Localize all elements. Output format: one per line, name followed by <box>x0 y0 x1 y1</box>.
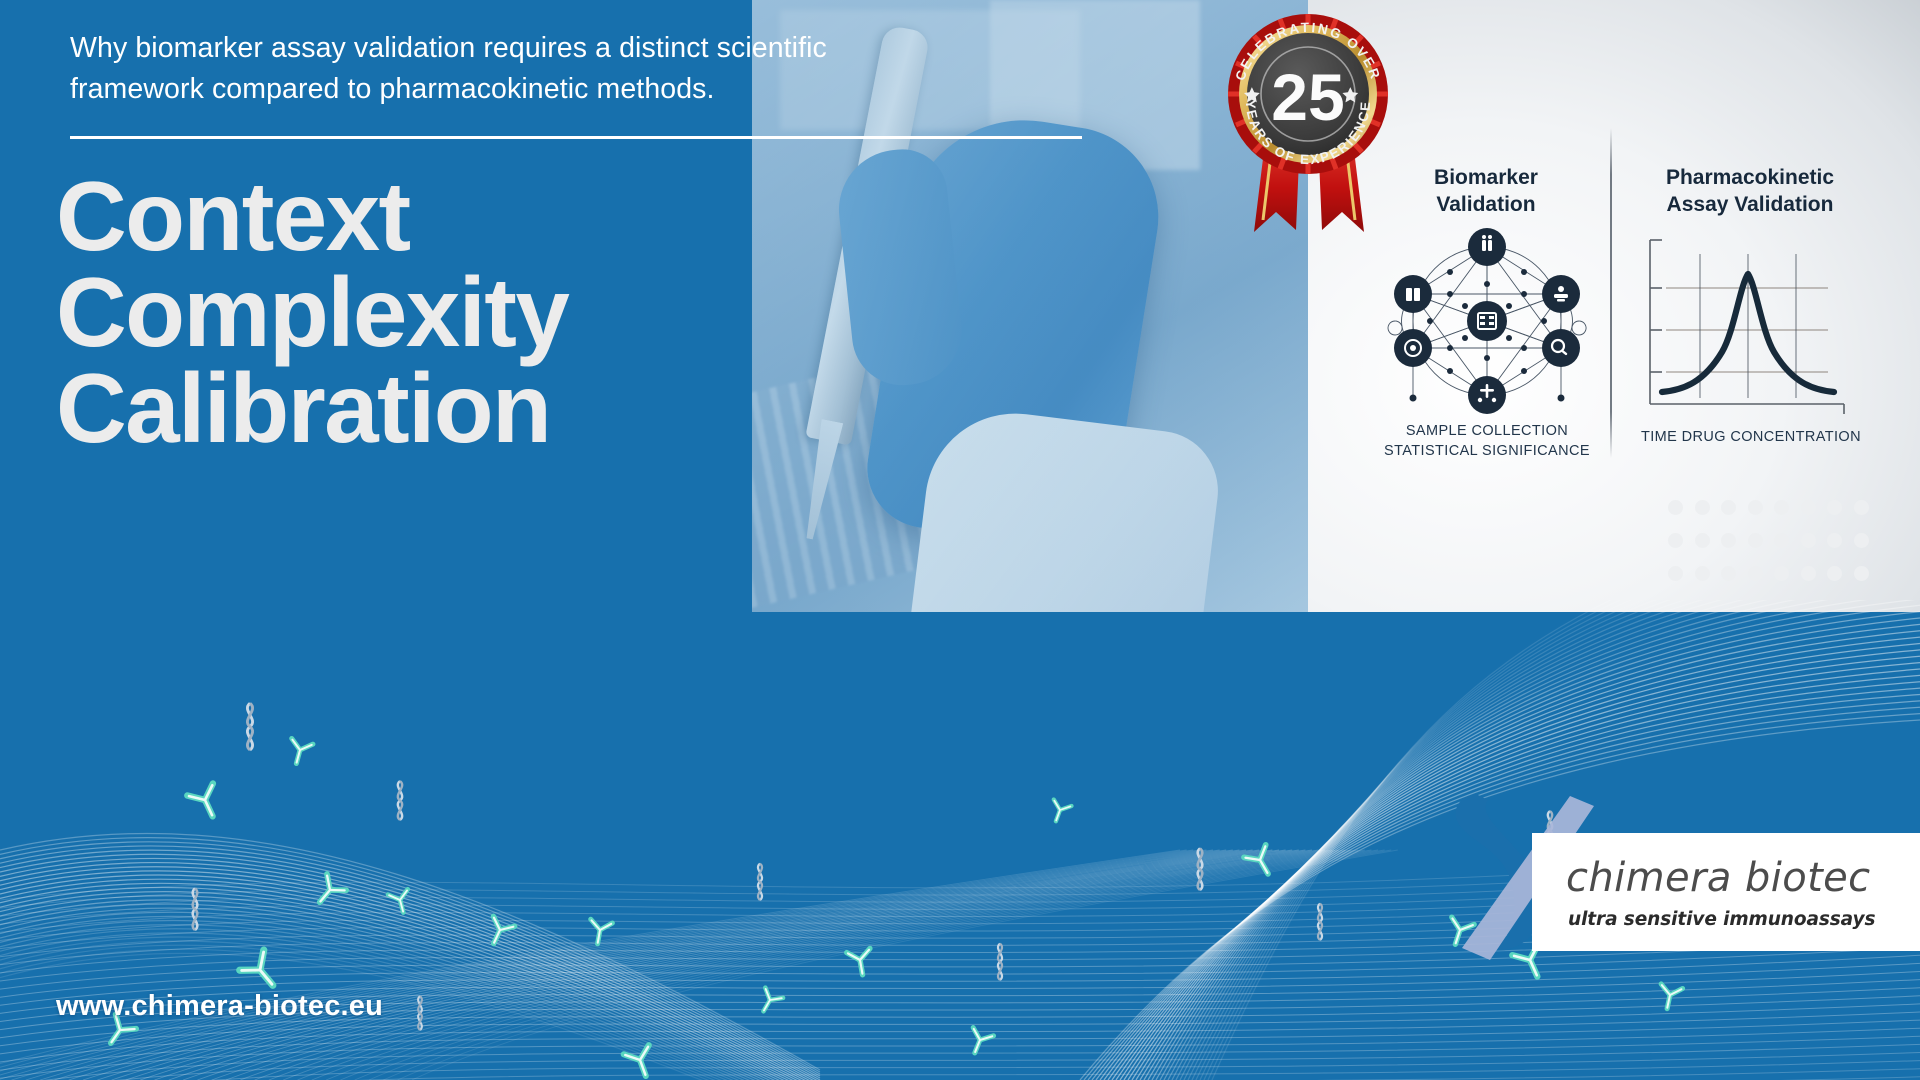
dna-strand-icon <box>1318 904 1322 940</box>
antibody-icon <box>310 874 346 910</box>
marketing-banner: Why biomarker assay validation requires … <box>0 0 1920 1080</box>
grid-dot <box>1695 566 1710 581</box>
grid-dot <box>1774 566 1789 581</box>
biomarker-panel-title: Biomarker Validation <box>1366 164 1606 219</box>
biomarker-panel-caption: SAMPLE COLLECTION STATISTICAL SIGNIFICAN… <box>1356 422 1618 461</box>
antibody-icon <box>1244 845 1279 880</box>
grid-dot <box>1801 500 1816 515</box>
grid-dot <box>1695 533 1710 548</box>
dna-strand-icon <box>1198 848 1203 890</box>
antibody-icon <box>240 950 285 995</box>
biomarker-title-line-1: Biomarker <box>1366 164 1606 191</box>
grid-dot <box>1801 566 1816 581</box>
antibody-icon <box>187 784 225 823</box>
grid-dot <box>1668 500 1683 515</box>
biomarker-network-diagram <box>1370 228 1604 414</box>
grid-dot <box>1854 566 1869 581</box>
headline-line-1: Context <box>56 168 568 264</box>
grid-dot <box>1721 533 1736 548</box>
antibody-icon <box>847 948 874 976</box>
pk-caption-line-1: TIME DRUG CONCENTRATION <box>1620 428 1882 448</box>
grid-dot <box>1695 500 1710 515</box>
company-name: chimera biotec <box>1566 855 1871 901</box>
chimera-logo-lockup: chimera biotec ultra sensitive immunoass… <box>1532 833 1920 951</box>
headline-line-2: Complexity <box>56 264 568 360</box>
grid-dot <box>1668 566 1683 581</box>
grid-dot <box>1854 500 1869 515</box>
antibody-icon <box>587 919 613 945</box>
dna-strand-icon <box>247 703 252 750</box>
biomarker-title-line-2: Validation <box>1366 191 1606 218</box>
anniversary-badge: CELEBRATING OVER YEARS OF EXPERIENCE 25 <box>1216 6 1402 238</box>
grid-dot <box>1854 533 1869 548</box>
company-tagline: ultra sensitive immunoassays <box>1568 909 1875 930</box>
antibody-icon <box>483 916 515 948</box>
badge-number: 25 <box>1271 60 1344 134</box>
grid-dot <box>1827 500 1842 515</box>
panel-divider <box>1610 128 1612 458</box>
grid-dot <box>1748 566 1763 581</box>
headline-line-3: Calibration <box>56 360 568 456</box>
antibody-icon <box>286 738 313 766</box>
antibody-icon <box>624 1045 659 1080</box>
pk-title-line-2: Assay Validation <box>1620 191 1880 218</box>
pk-peak-chart <box>1638 226 1860 422</box>
dna-strand-icon <box>398 781 402 820</box>
subtitle-line-2: framework compared to pharmacokinetic me… <box>70 69 1120 110</box>
grid-dot <box>1774 533 1789 548</box>
dna-strand-icon <box>998 944 1002 980</box>
grid-dot <box>1721 500 1736 515</box>
grid-dot <box>1748 500 1763 515</box>
antibody-icon <box>755 988 783 1017</box>
antibody-icon <box>1656 984 1682 1011</box>
biomarker-caption-line-1: SAMPLE COLLECTION <box>1356 422 1618 442</box>
biomarker-caption-line-2: STATISTICAL SIGNIFICANCE <box>1356 442 1618 462</box>
subtitle-divider-rule <box>70 136 1082 139</box>
grid-dot <box>1774 500 1789 515</box>
grid-dot <box>1668 533 1683 548</box>
grid-dot <box>1801 533 1816 548</box>
dna-strand-icon <box>758 864 762 900</box>
subtitle-line-1: Why biomarker assay validation requires … <box>70 28 1120 69</box>
pk-title-line-1: Pharmacokinetic <box>1620 164 1880 191</box>
subtitle-block: Why biomarker assay validation requires … <box>70 28 1120 110</box>
dna-strand-icon <box>193 888 198 930</box>
dot-grid-decoration <box>1668 500 1888 590</box>
page-title: Context Complexity Calibration <box>56 168 568 456</box>
antibody-icon <box>965 1028 994 1058</box>
website-url[interactable]: www.chimera-biotec.eu <box>56 990 383 1023</box>
grid-dot <box>1721 566 1736 581</box>
grid-dot <box>1827 566 1842 581</box>
pk-panel-caption: TIME DRUG CONCENTRATION <box>1620 428 1882 448</box>
grid-dot <box>1748 533 1763 548</box>
pk-panel-title: Pharmacokinetic Assay Validation <box>1620 164 1880 219</box>
dna-strand-icon <box>418 996 422 1030</box>
grid-dot <box>1827 533 1842 548</box>
antibody-icon <box>388 889 413 915</box>
antibody-icon <box>1047 800 1071 825</box>
